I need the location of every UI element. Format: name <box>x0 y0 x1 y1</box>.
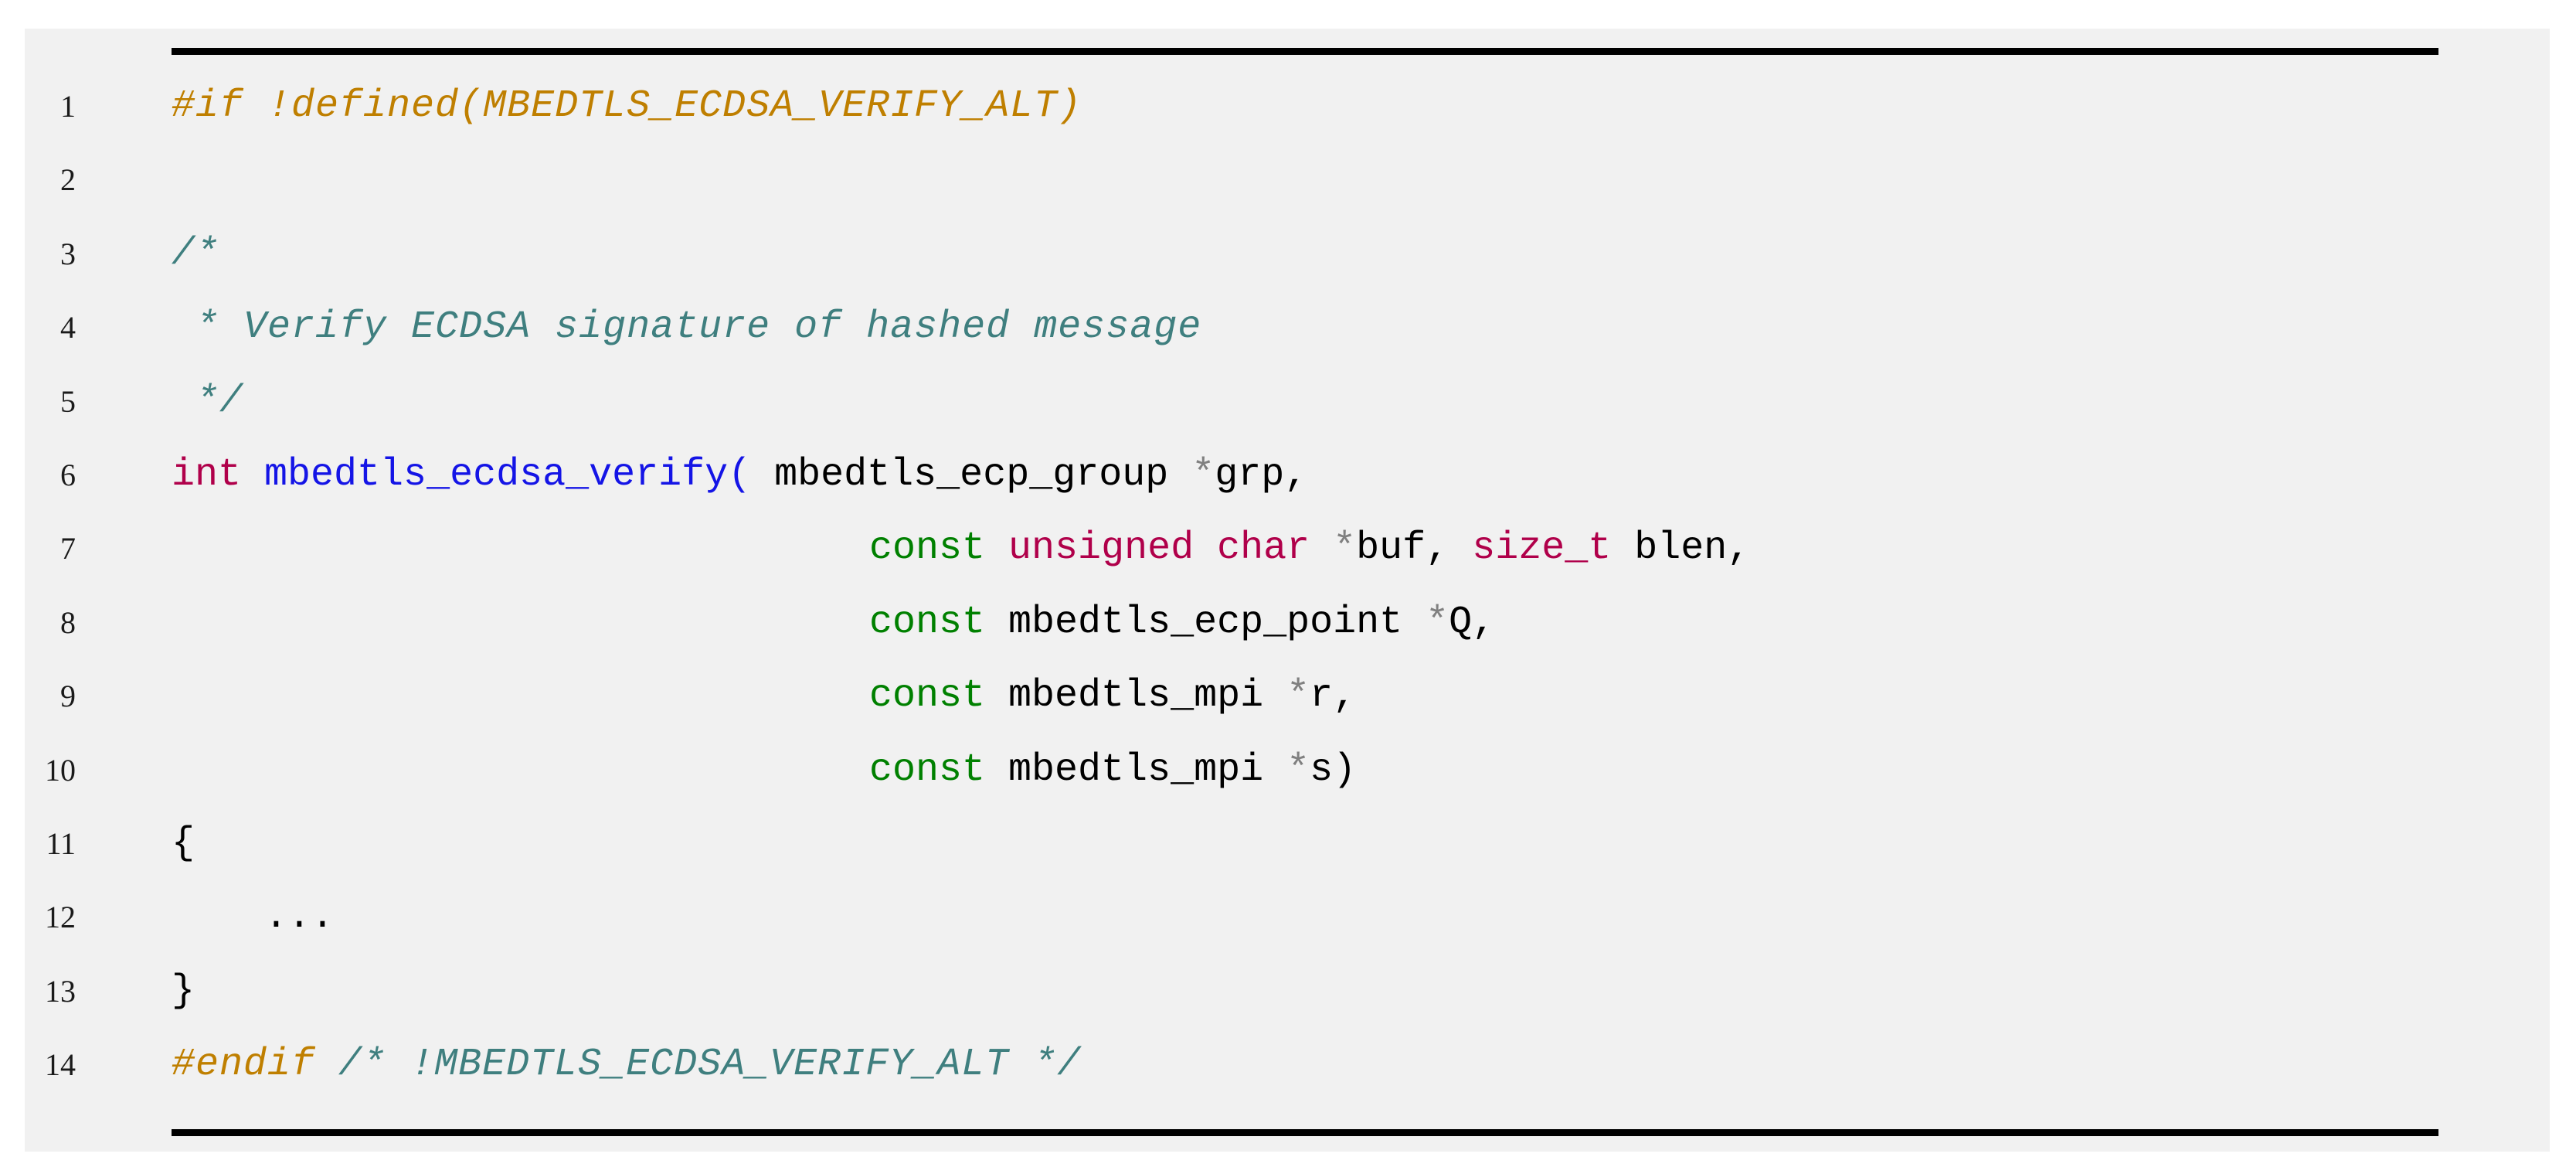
code-token-plain: buf, <box>1356 526 1472 570</box>
code-lines-container: #if !defined(MBEDTLS_ECDSA_VERIFY_ALT)/*… <box>172 29 2489 1111</box>
code-line: #if !defined(MBEDTLS_ECDSA_VERIFY_ALT) <box>172 87 1082 126</box>
code-line: const unsigned char *buf, size_t blen, <box>869 529 1750 568</box>
code-token-const: const <box>869 526 985 570</box>
code-token-keyword: size_t <box>1472 526 1611 570</box>
code-token-plain: mbedtls_ecp_point <box>985 601 1426 645</box>
code-line: { <box>172 825 195 863</box>
code-line: const mbedtls_mpi *r, <box>869 677 1356 716</box>
line-number: 4 <box>0 312 76 343</box>
listing-bottom-rule <box>172 1129 2438 1136</box>
code-token-operator: * <box>1426 601 1449 645</box>
line-number: 14 <box>0 1050 76 1080</box>
line-number: 7 <box>0 533 76 564</box>
code-token-operator: * <box>1286 748 1310 792</box>
line-number: 12 <box>0 902 76 933</box>
code-token-keyword: unsigned char <box>1008 526 1310 570</box>
code-token-operator: * <box>1333 526 1356 570</box>
line-number: 3 <box>0 239 76 270</box>
code-token-plain: r, <box>1310 674 1356 718</box>
code-line: } <box>172 972 195 1011</box>
line-number: 8 <box>0 607 76 638</box>
code-token-directive: #endif <box>172 1043 315 1087</box>
code-token-function: mbedtls_ecdsa_verify( <box>264 453 751 497</box>
code-token-comment: */ <box>172 379 243 424</box>
line-number: 1 <box>0 91 76 122</box>
line-number: 6 <box>0 460 76 491</box>
code-token-plain: s) <box>1310 748 1356 792</box>
code-token-plain <box>241 453 264 497</box>
code-token-plain: mbedtls_mpi <box>985 748 1286 792</box>
code-token-plain: blen, <box>1611 526 1750 570</box>
code-token-const: const <box>869 674 985 718</box>
line-number: 10 <box>0 755 76 786</box>
code-line: ... <box>264 898 334 937</box>
line-number: 11 <box>0 829 76 859</box>
code-token-plain: } <box>172 969 195 1013</box>
code-token-plain <box>985 526 1008 570</box>
line-number: 5 <box>0 386 76 417</box>
code-token-keyword: int <box>172 453 241 497</box>
code-token-plain: Q, <box>1449 601 1495 645</box>
line-number: 9 <box>0 681 76 712</box>
line-number-gutter: 1234567891011121314 <box>0 29 76 1111</box>
code-token-plain <box>315 1043 338 1087</box>
code-token-plain: mbedtls_ecp_group <box>751 453 1191 497</box>
code-token-comment: /* <box>172 232 219 276</box>
code-line: #endif /* !MBEDTLS_ECDSA_VERIFY_ALT */ <box>172 1046 1081 1084</box>
code-line: const mbedtls_ecp_point *Q, <box>869 604 1495 642</box>
code-line: int mbedtls_ecdsa_verify( mbedtls_ecp_gr… <box>172 456 1307 495</box>
line-number: 13 <box>0 976 76 1007</box>
code-token-operator: * <box>1286 674 1310 718</box>
code-token-plain <box>1310 526 1333 570</box>
code-token-plain: ... <box>264 895 334 939</box>
code-token-const: const <box>869 601 985 645</box>
code-line: * Verify ECDSA signature of hashed messa… <box>172 308 1201 347</box>
code-token-directive: #if !defined(MBEDTLS_ECDSA_VERIFY_ALT) <box>172 84 1082 128</box>
code-token-plain: grp, <box>1215 453 1307 497</box>
line-number: 2 <box>0 165 76 196</box>
code-listing-figure: 1234567891011121314 #if !defined(MBEDTLS… <box>0 0 2576 1174</box>
code-token-comment: * Verify ECDSA signature of hashed messa… <box>172 305 1201 349</box>
code-token-operator: * <box>1191 453 1215 497</box>
code-line: /* <box>172 235 219 274</box>
code-line: const mbedtls_mpi *s) <box>869 751 1356 790</box>
code-token-plain: mbedtls_mpi <box>985 674 1286 718</box>
code-token-plain: { <box>172 822 195 866</box>
code-token-comment: /* !MBEDTLS_ECDSA_VERIFY_ALT */ <box>338 1043 1081 1087</box>
code-token-const: const <box>869 748 985 792</box>
code-line: */ <box>172 383 243 421</box>
